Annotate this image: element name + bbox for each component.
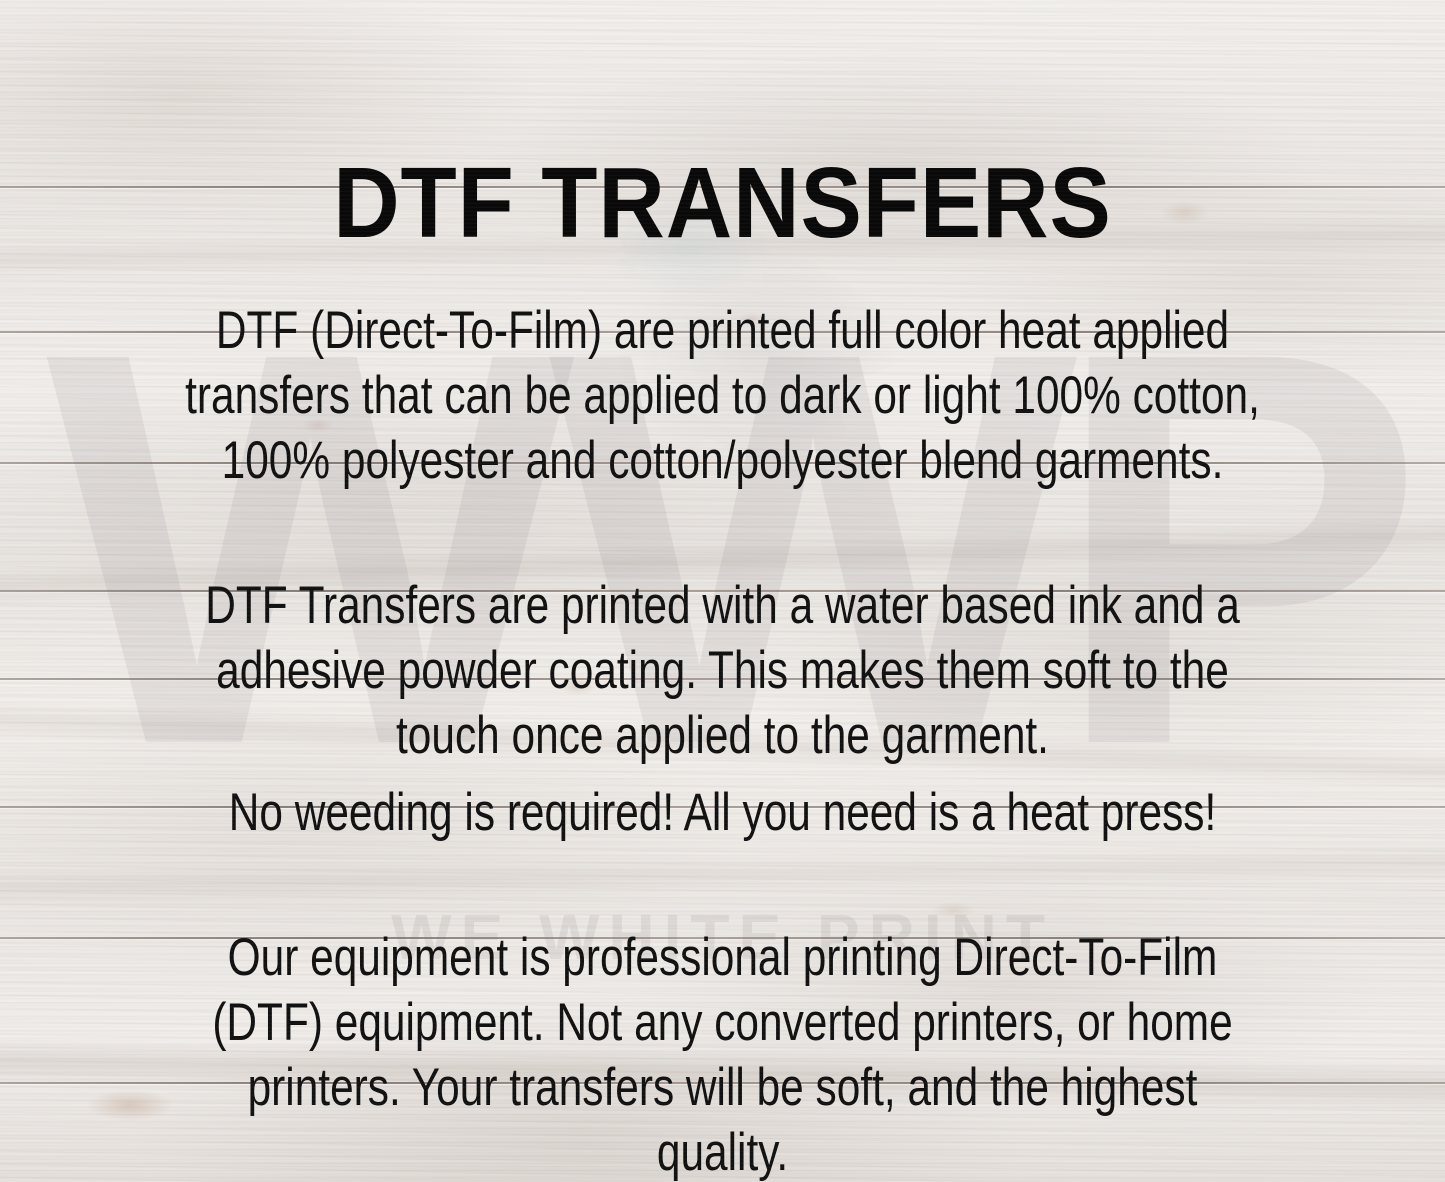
paragraph-equipment: Our equipment is professional printing D… [177,925,1269,1182]
paragraph-no-weeding: No weeding is required! All you need is … [177,780,1269,845]
paragraph-description: DTF (Direct-To-Film) are printed full co… [177,298,1269,493]
poster-content: DTF TRANSFERS DTF (Direct-To-Film) are p… [0,0,1445,1182]
paragraph-ink-coating: DTF Transfers are printed with a water b… [177,573,1269,768]
page-title: DTF TRANSFERS [58,153,1387,253]
dtf-transfers-poster: WWP WE WHITE PRINT DTF TRANSFERS DTF (Di… [0,0,1445,1182]
